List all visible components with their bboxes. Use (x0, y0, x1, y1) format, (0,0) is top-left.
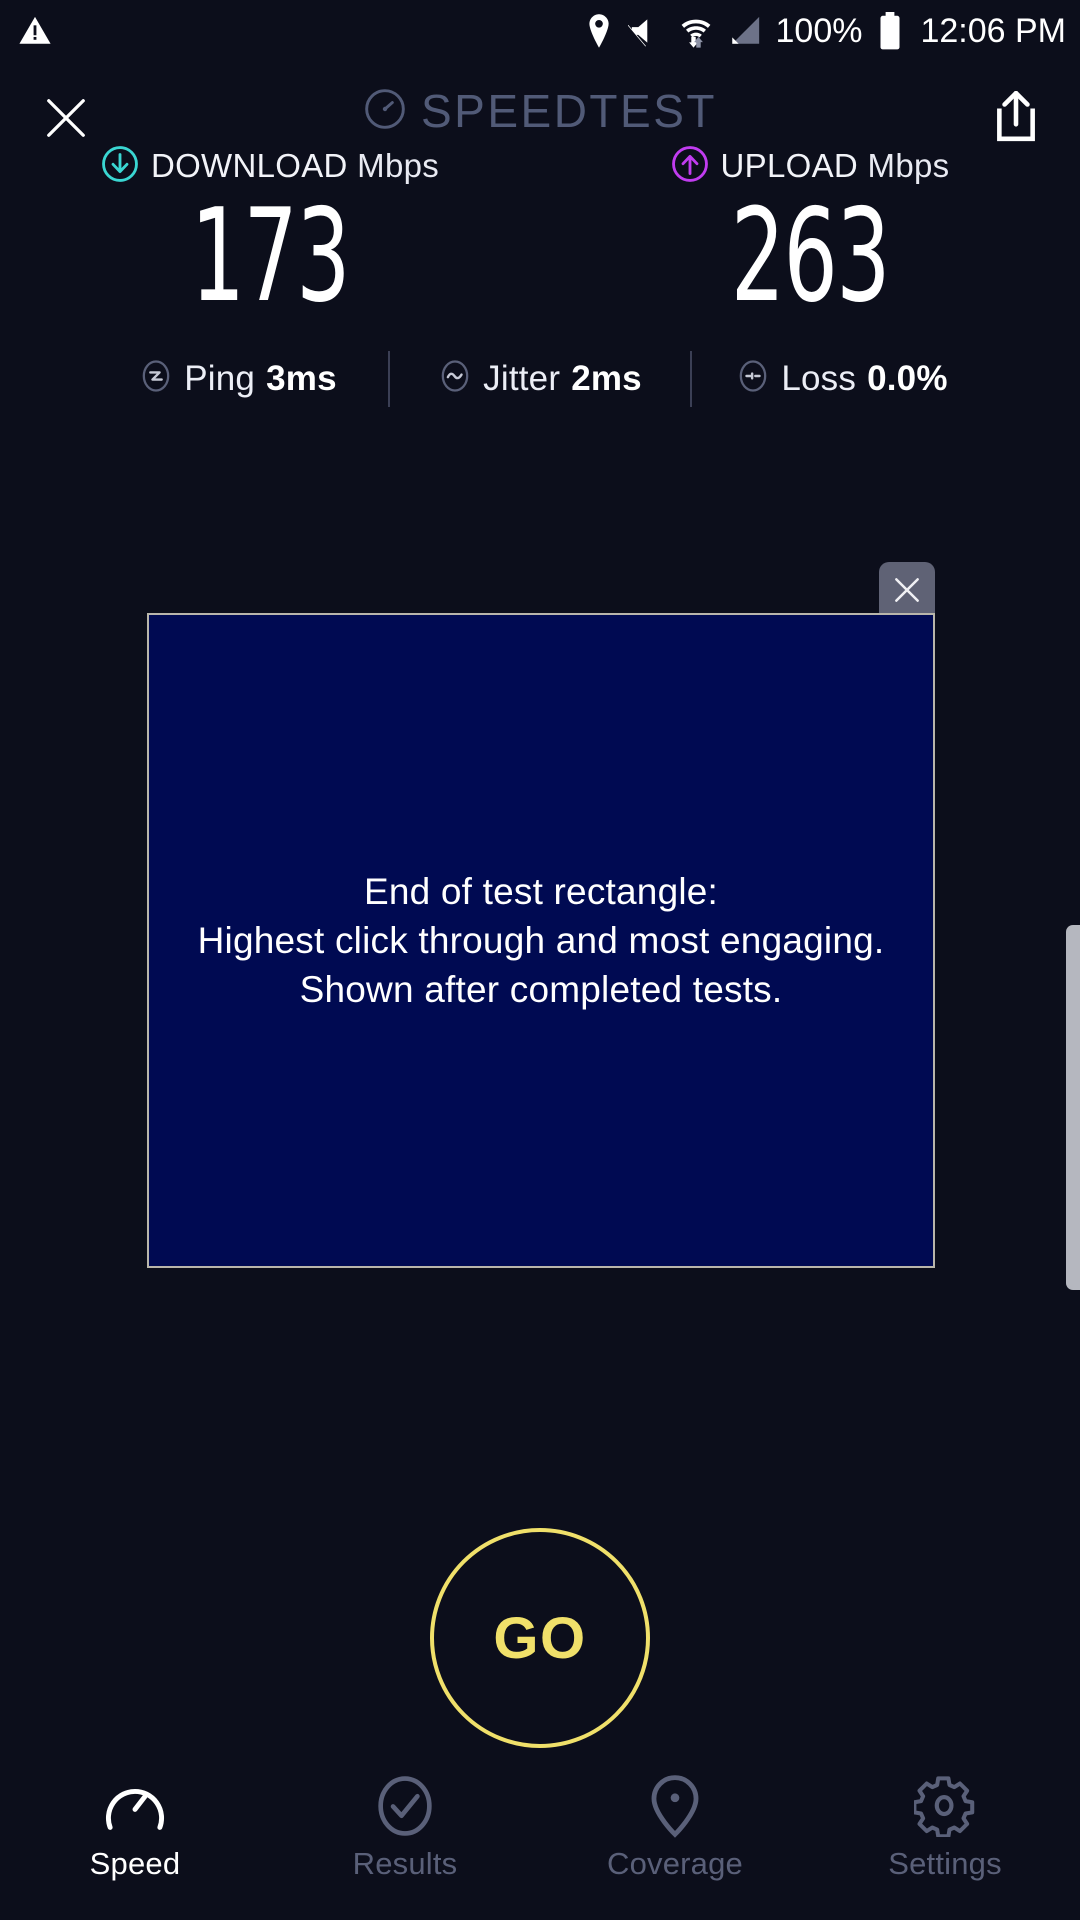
upload-value: 263 (731, 192, 889, 323)
bottom-navigation: Speed Results Coverage (0, 1760, 1080, 1920)
nav-item-settings-label: Settings (888, 1846, 1002, 1882)
download-value: 173 (191, 192, 349, 323)
location-pin-icon (584, 13, 614, 49)
nav-item-coverage-label: Coverage (607, 1846, 743, 1882)
battery-percent-label: 100% (776, 14, 863, 48)
nav-item-results-label: Results (353, 1846, 458, 1882)
volume-muted-icon (628, 15, 664, 47)
nav-item-speed-label: Speed (90, 1846, 181, 1882)
brand: SPEEDTEST (0, 84, 1080, 138)
ad-text: End of test rectangle: Highest click thr… (190, 867, 893, 1015)
results-summary: DOWNLOAD Mbps 173 UPLOAD Mbps 263 (0, 142, 1080, 411)
metric-loss-label: Loss (781, 359, 856, 399)
nav-item-coverage[interactable]: Coverage (540, 1760, 810, 1920)
speedometer-icon (102, 1776, 168, 1836)
go-button[interactable]: GO (430, 1528, 650, 1748)
metric-jitter-value: 2ms (571, 359, 642, 399)
page-title: SPEEDTEST (421, 84, 717, 138)
warning-triangle-icon (18, 14, 52, 48)
metric-ping-value: 3ms (266, 359, 337, 399)
check-circle-icon (374, 1776, 436, 1836)
battery-full-icon (878, 12, 902, 50)
status-bar-left (18, 14, 52, 48)
upload-arrow-icon (671, 145, 709, 188)
upload-label: UPLOAD Mbps (721, 147, 950, 185)
download-label: DOWNLOAD Mbps (151, 147, 439, 185)
metric-loss: Loss 0.0% (692, 359, 992, 399)
location-pin-icon (648, 1776, 702, 1836)
jitter-icon (438, 359, 472, 398)
status-bar-clock: 12:06 PM (920, 14, 1066, 48)
status-bar: 100% 12:06 PM (0, 0, 1080, 62)
metrics-row: Ping 3ms Jitter 2ms (0, 347, 1080, 411)
go-button-label: GO (493, 1605, 586, 1672)
gear-icon (914, 1776, 976, 1836)
nav-item-settings[interactable]: Settings (810, 1760, 1080, 1920)
metric-ping-label: Ping (184, 359, 255, 399)
upload-result: UPLOAD Mbps 263 (540, 142, 1080, 323)
metric-jitter-label: Jitter (483, 359, 560, 399)
metric-jitter: Jitter 2ms (390, 359, 690, 399)
ad-close-button[interactable] (879, 562, 935, 618)
speed-row: DOWNLOAD Mbps 173 UPLOAD Mbps 263 (0, 142, 1080, 323)
download-result: DOWNLOAD Mbps 173 (0, 142, 540, 323)
wifi-transfer-icon (678, 13, 714, 49)
loss-icon (736, 359, 770, 398)
advertisement-banner[interactable]: End of test rectangle: Highest click thr… (147, 613, 935, 1268)
metric-ping: Ping 3ms (88, 359, 388, 399)
speedtest-app-screen: 100% 12:06 PM SP (0, 0, 1080, 1920)
nav-item-results[interactable]: Results (270, 1760, 540, 1920)
cell-signal-icon (728, 15, 762, 47)
status-bar-right: 100% 12:06 PM (584, 12, 1067, 50)
speedometer-icon (363, 87, 407, 136)
ping-icon (139, 359, 173, 398)
download-arrow-icon (101, 145, 139, 188)
nav-item-speed[interactable]: Speed (0, 1760, 270, 1920)
metric-loss-value: 0.0% (867, 359, 948, 399)
scrollbar-thumb[interactable] (1066, 925, 1080, 1290)
